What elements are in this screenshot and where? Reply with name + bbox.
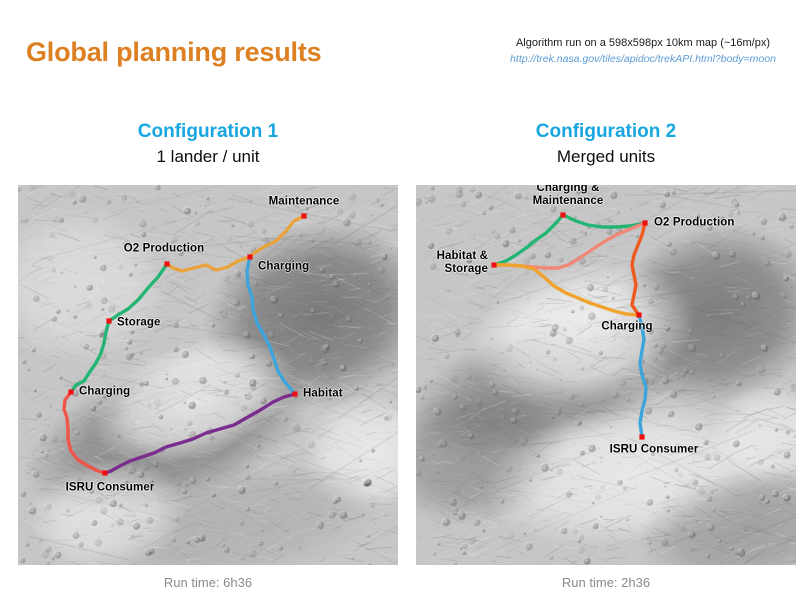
o2-charging-red-path xyxy=(632,223,645,315)
maintenance-charging-path xyxy=(250,216,304,257)
node-label: Habitat xyxy=(303,388,343,401)
node-marker xyxy=(636,312,641,317)
habitat-charging-orange-path xyxy=(494,265,639,315)
charging-maintenance-o2-path xyxy=(563,215,645,227)
route-overlay xyxy=(416,185,796,565)
node-marker xyxy=(102,470,107,475)
charging-isru-path xyxy=(64,392,105,473)
config-1-title: Configuration 1 xyxy=(18,120,398,144)
node-label: Storage xyxy=(117,317,161,330)
configuration-1-column: Configuration 1 1 lander / unit Maintena… xyxy=(18,120,398,590)
configuration-2-column: Configuration 2 Merged units Charging & … xyxy=(416,120,796,590)
charging-o2-path xyxy=(167,257,250,271)
config-1-runtime: Run time: 6h36 xyxy=(18,575,398,590)
header-note-text: Algorithm run on a 598x598px 10km map (~… xyxy=(488,36,798,51)
node-marker xyxy=(68,389,73,394)
node-label: ISRU Consumer xyxy=(66,482,155,495)
node-label: Habitat & Storage xyxy=(437,250,488,276)
route-overlay xyxy=(18,185,398,565)
node-label: Charging xyxy=(601,321,652,334)
header-note: Algorithm run on a 598x598px 10km map (~… xyxy=(488,36,798,67)
node-marker xyxy=(642,220,647,225)
node-marker xyxy=(491,262,496,267)
node-marker xyxy=(639,434,644,439)
config-2-subtitle: Merged units xyxy=(416,145,796,169)
node-label: O2 Production xyxy=(124,243,205,256)
o2-storage-path xyxy=(109,264,167,321)
config-1-map[interactable]: MaintenanceO2 ProductionChargingStorageC… xyxy=(18,185,398,565)
habitat-isru-path xyxy=(105,394,295,473)
node-marker xyxy=(292,391,297,396)
node-label: Charging xyxy=(79,386,130,399)
config-2-map[interactable]: Charging & MaintenanceO2 ProductionHabit… xyxy=(416,185,796,565)
config-2-runtime: Run time: 2h36 xyxy=(416,575,796,590)
node-marker xyxy=(247,254,252,259)
config-2-title: Configuration 2 xyxy=(416,120,796,144)
trek-api-link[interactable]: http://trek.nasa.gov/tiles/apidoc/trekAP… xyxy=(488,51,798,67)
node-marker xyxy=(301,213,306,218)
charging-habitat-path xyxy=(247,257,295,394)
node-label: Maintenance xyxy=(269,196,340,209)
node-label: ISRU Consumer xyxy=(610,444,699,457)
node-label: Charging xyxy=(258,261,309,274)
page-title: Global planning results xyxy=(26,37,321,68)
habitat-charging-maintenance-path xyxy=(494,215,563,265)
habitat-o2-salmon-path xyxy=(494,223,645,268)
node-marker xyxy=(560,212,565,217)
storage-charging-path xyxy=(71,321,109,392)
config-1-subtitle: 1 lander / unit xyxy=(18,145,398,169)
node-marker xyxy=(164,261,169,266)
node-label: O2 Production xyxy=(654,217,735,230)
node-label: Charging & Maintenance xyxy=(533,185,604,208)
node-marker xyxy=(106,318,111,323)
